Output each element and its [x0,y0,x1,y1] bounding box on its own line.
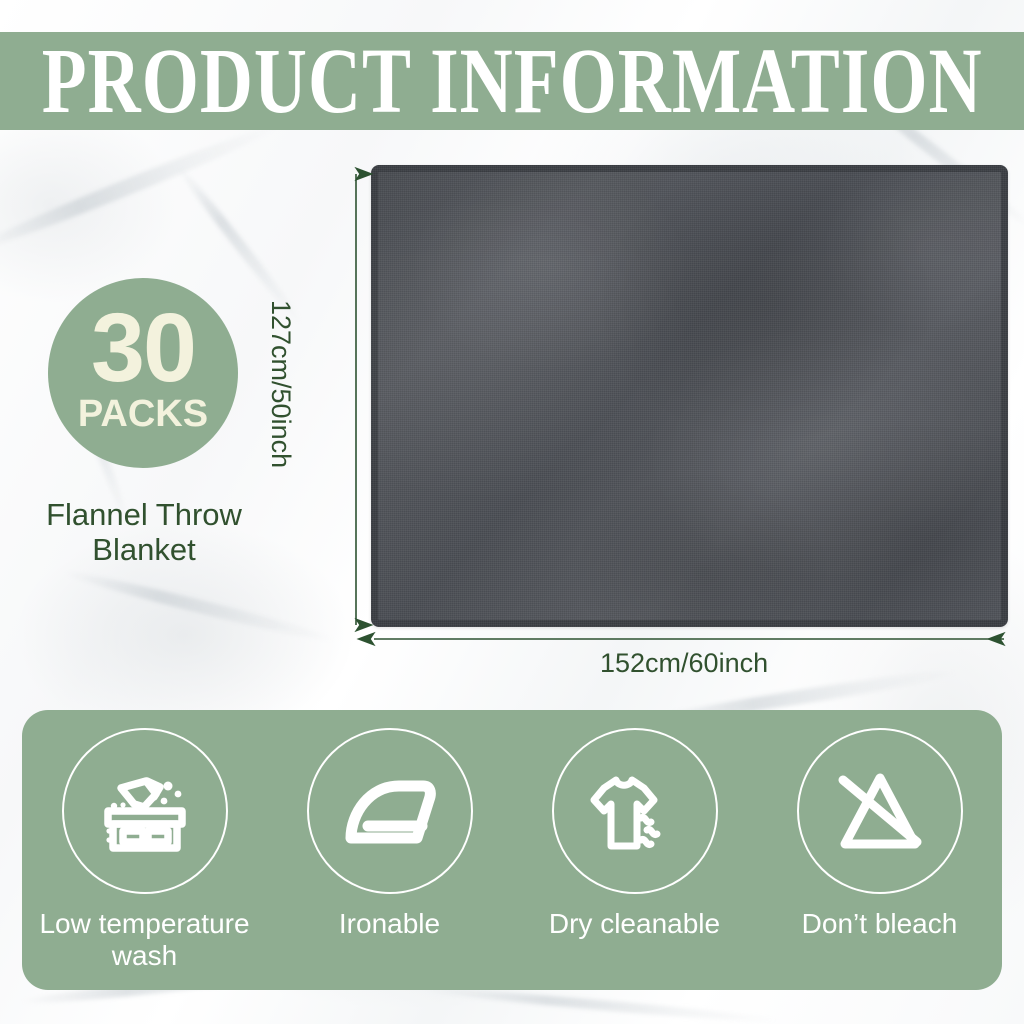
care-icon-circle [307,728,473,894]
dry-clean-shirt-icon [580,756,690,866]
care-item-label: Don’t bleach [802,908,958,940]
care-icon-circle [552,728,718,894]
no-bleach-crossed-triangle-icon [825,756,935,866]
wash-basin-low-temperature-icon [90,756,200,866]
care-item-dry-cleanable: Dry cleanable [517,728,753,940]
header-band: PRODUCT INFORMATION [0,32,1024,130]
blanket-product-image [371,165,1008,627]
care-icon-circle [62,728,228,894]
height-dimension-arrow [336,160,376,640]
packs-count: 30 [91,309,195,387]
blanket-sheen-overlay [371,165,1008,627]
care-item-label: Dry cleanable [549,908,720,940]
care-item-label: Low temperature wash [39,908,249,972]
width-dimension-label: 152cm/60inch [600,648,768,679]
care-item-label: Ironable [339,908,440,940]
height-dimension-label: 127cm/50inch [265,300,296,468]
care-instructions-panel: Low temperature wash Ironable [22,710,1002,990]
care-item-dont-bleach: Don’t bleach [762,728,998,940]
marble-vein [63,566,338,646]
iron-icon [335,756,445,866]
care-icon-circle [797,728,963,894]
blanket-fabric-texture [371,165,1008,627]
page-title: PRODUCT INFORMATION [31,34,992,128]
marble-vein [0,119,281,257]
packs-badge: 30 PACKS [48,278,238,468]
product-information-infographic: PRODUCT INFORMATION 30 PACKS Flannel Thr… [0,0,1024,1024]
product-name: Flannel Throw Blanket [8,498,280,567]
care-item-ironable: Ironable [272,728,508,940]
packs-unit-label: PACKS [78,395,208,433]
care-item-low-temperature-wash: Low temperature wash [27,728,263,972]
marble-vein [420,984,780,1024]
